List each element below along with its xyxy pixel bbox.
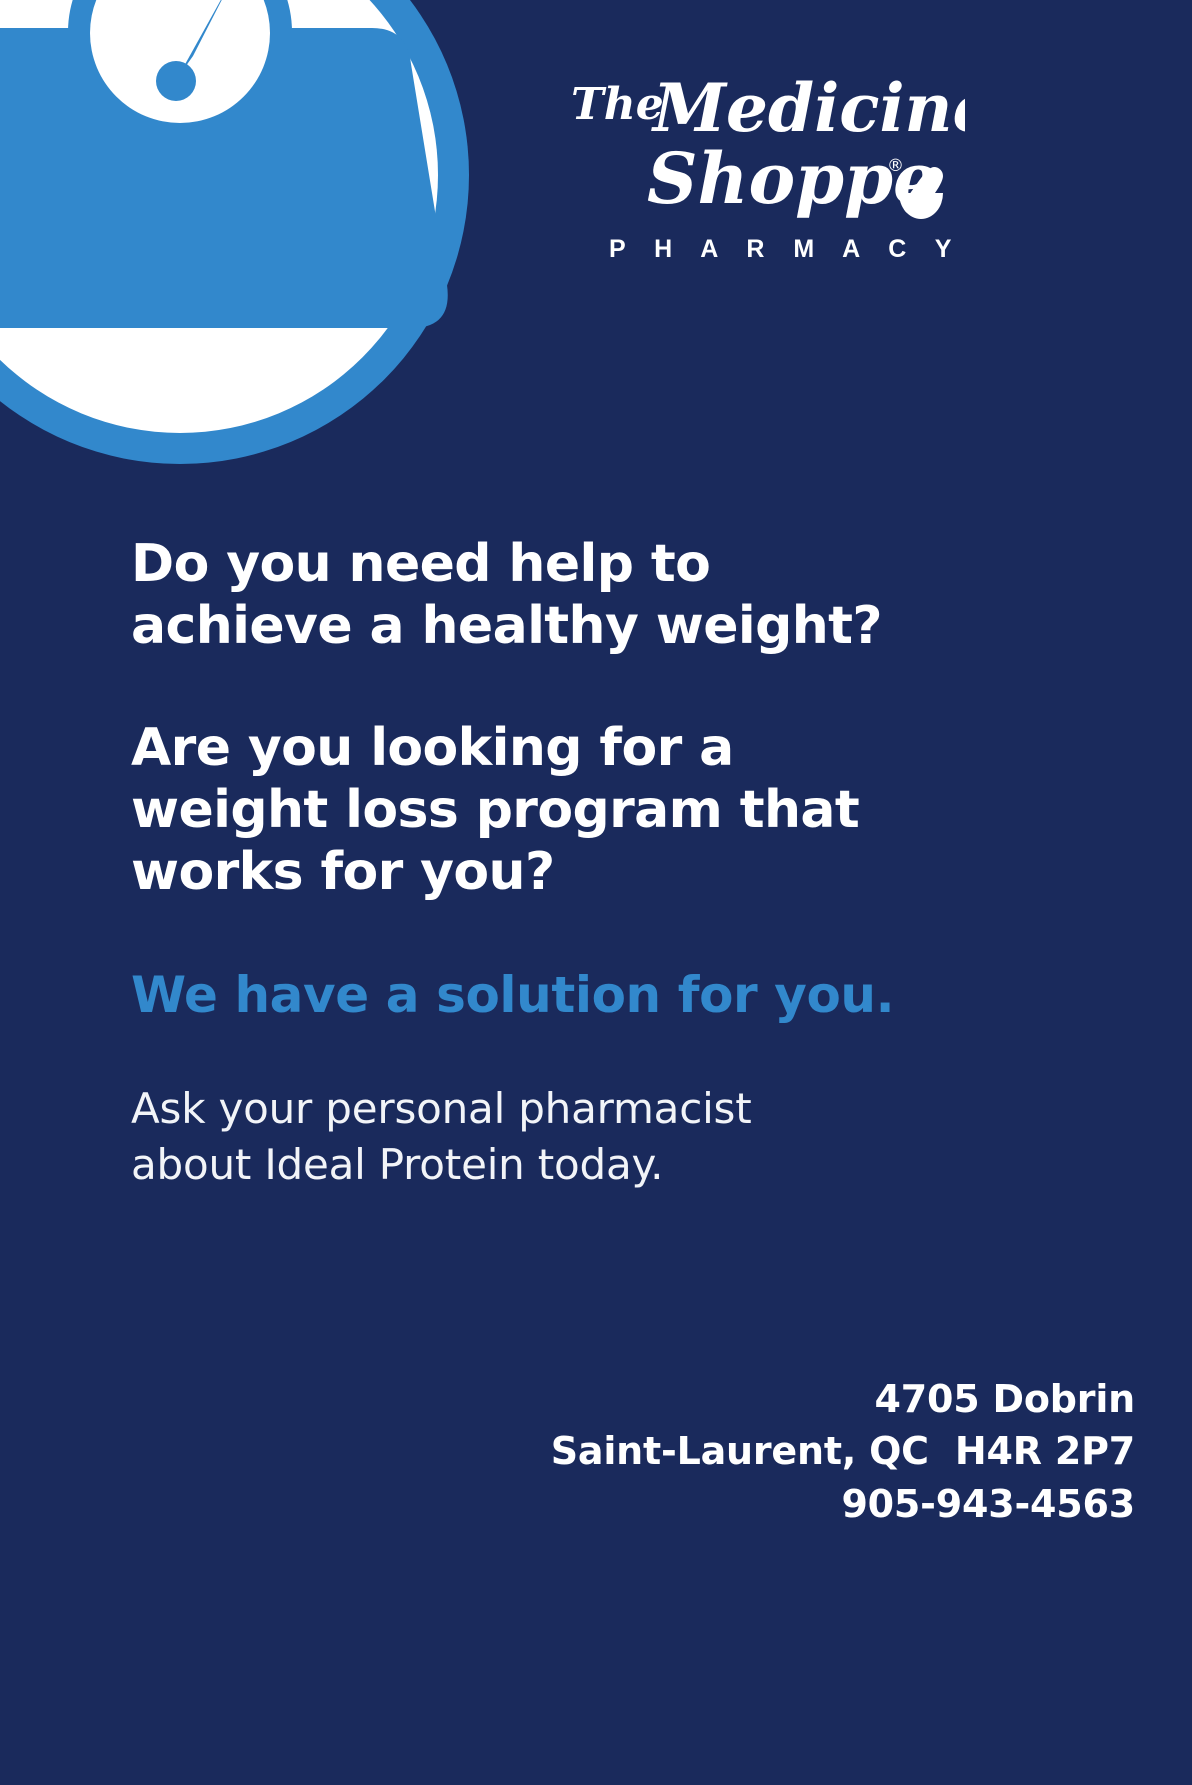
headline-1-line-2: achieve a healthy weight? bbox=[131, 596, 882, 656]
registered-mark-icon: ® bbox=[887, 156, 904, 176]
headline-2-line-2: weight loss program that bbox=[131, 780, 859, 840]
headline-2-line-1: Are you looking for a bbox=[131, 718, 734, 778]
address-street: 4705 Dobrin bbox=[551, 1373, 1135, 1425]
solution-statement: We have a solution for you. bbox=[131, 965, 941, 1025]
medicine-shoppe-logo: The Medicine Shoppe ® P H A R M A C Y bbox=[565, 75, 965, 270]
logo-shoppe-text: Shoppe bbox=[647, 137, 938, 220]
cta-line-2: about Ideal Protein today. bbox=[131, 1137, 941, 1193]
store-address-block: 4705 Dobrin Saint-Laurent, QC H4R 2P7 90… bbox=[551, 1373, 1135, 1530]
address-city-province-postal: Saint-Laurent, QC H4R 2P7 bbox=[551, 1425, 1135, 1477]
logo-the-text: The bbox=[571, 79, 664, 130]
weight-scale-icon bbox=[0, 0, 475, 470]
headline-question-2: Are you looking for a weight loss progra… bbox=[131, 718, 941, 904]
poster-canvas: The Medicine Shoppe ® P H A R M A C Y Do… bbox=[0, 0, 1192, 1785]
headline-1-line-1: Do you need help to bbox=[131, 534, 710, 594]
headline-2-line-3: works for you? bbox=[131, 842, 555, 902]
address-phone[interactable]: 905-943-4563 bbox=[551, 1478, 1135, 1530]
copy-block: Do you need help to achieve a healthy we… bbox=[131, 534, 941, 1193]
cta-line-1: Ask your personal pharmacist bbox=[131, 1081, 941, 1137]
call-to-action-text: Ask your personal pharmacist about Ideal… bbox=[131, 1081, 941, 1193]
logo-pharmacy-text: P H A R M A C Y bbox=[609, 235, 962, 263]
headline-question-1: Do you need help to achieve a healthy we… bbox=[131, 534, 941, 658]
